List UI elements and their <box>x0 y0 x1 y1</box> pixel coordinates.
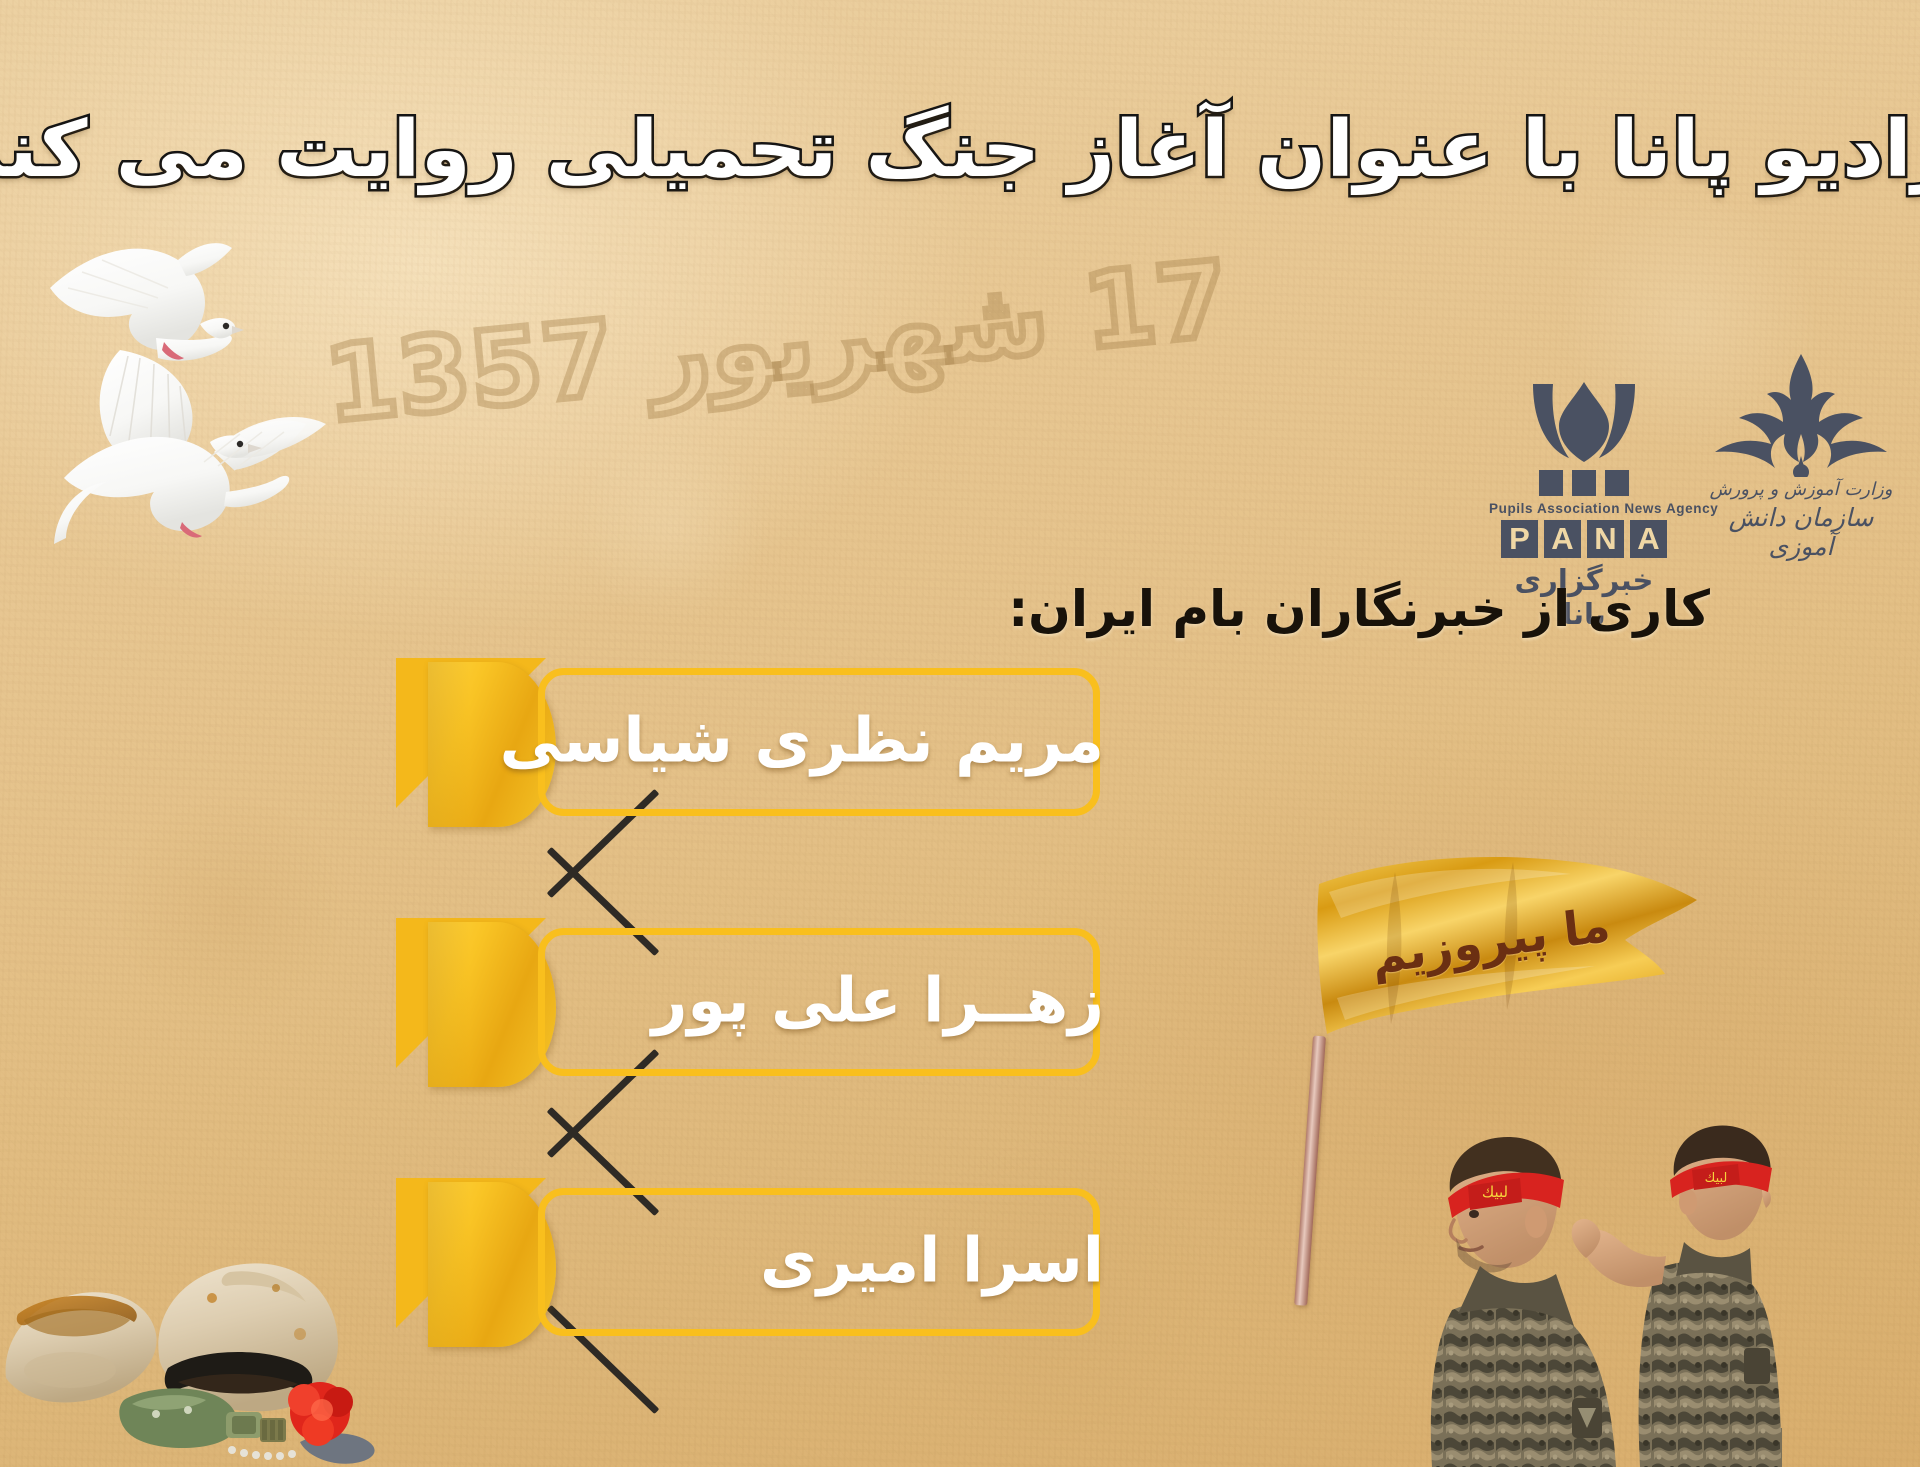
ministry-line-1: وزارت آموزش و پرورش <box>1695 479 1907 500</box>
svg-text:لبيك: لبيك <box>1482 1183 1508 1201</box>
page-title: رادیو پانا با عنوان آغاز جنگ تحمیلی روای… <box>0 104 1920 196</box>
pana-emblem-icon <box>1525 378 1643 466</box>
ministry-logo: وزارت آموزش و پرورش سازمان دانش آموزی <box>1695 352 1907 582</box>
helmets-icon <box>0 1250 430 1467</box>
victory-flag: ما پیروزیم <box>1245 848 1715 1078</box>
pana-tagline: Pupils Association News Agency <box>1489 501 1679 516</box>
reporter-name-3: اسرا امیری <box>760 1224 1104 1297</box>
pana-letter-n: N <box>1587 520 1624 558</box>
reporter-name-list: مریم نظری شیاسی زهــرا علی پور اسرا امیر… <box>410 650 1130 1380</box>
svg-text:لبيك: لبيك <box>1705 1171 1728 1186</box>
pana-letter-p: P <box>1501 520 1538 558</box>
pana-bars <box>1489 470 1679 496</box>
ribbon-fold-icon <box>428 922 556 1087</box>
subtitle-credit: کاری از خبرنگاران بام ایران: <box>1008 580 1710 638</box>
poster-canvas: 17 شهریور 1357 رادیو پانا با عنوان آغاز … <box>0 0 1920 1467</box>
soldiers-illustration: لبيك <box>1340 1098 1860 1467</box>
pana-letter-a2: A <box>1630 520 1667 558</box>
battlefield-objects <box>0 1250 430 1467</box>
pana-logo: Pupils Association News Agency P A N A خ… <box>1489 378 1679 578</box>
soldiers-icon: لبيك <box>1340 1098 1860 1467</box>
ministry-line-2: سازمان دانش آموزی <box>1695 503 1907 561</box>
doves-icon <box>18 222 348 547</box>
doves-illustration <box>18 222 348 547</box>
flag-cloth-icon <box>1245 848 1715 1078</box>
ministry-ornament-icon <box>1695 352 1907 477</box>
ribbon-fold-icon <box>428 1182 556 1347</box>
reporter-name-2: زهــرا علی پور <box>652 964 1104 1037</box>
list-item[interactable]: مریم نظری شیاسی <box>410 650 1130 830</box>
watermark-date: 17 شهریور 1357 <box>357 247 1233 434</box>
list-item[interactable]: اسرا امیری <box>410 1170 1130 1350</box>
pana-wordmark: P A N A <box>1489 520 1679 558</box>
reporter-name-1: مریم نظری شیاسی <box>500 704 1104 777</box>
list-item[interactable]: زهــرا علی پور <box>410 910 1130 1090</box>
pana-letter-a1: A <box>1544 520 1581 558</box>
